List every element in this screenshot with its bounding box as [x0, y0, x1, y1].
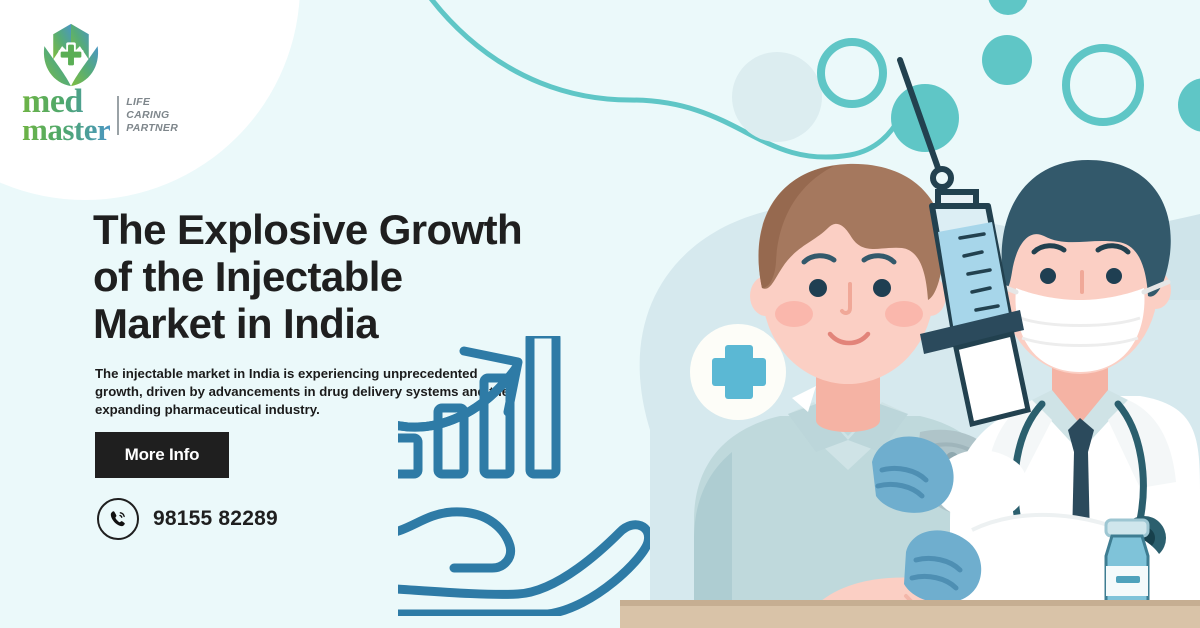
brand-logo[interactable]: med master LIFE CARING PARTNER [22, 18, 202, 143]
contact-phone[interactable]: 98155 82289 [97, 498, 278, 540]
phone-call-icon [97, 498, 139, 540]
more-info-button[interactable]: More Info [95, 432, 229, 478]
patient-cheek-left [775, 301, 813, 327]
leaf-cross-m-logo-icon [34, 18, 108, 92]
patient-eye-right [873, 279, 891, 297]
logo-word-master: master [22, 117, 110, 143]
doctor-vaccinating-patient-illustration [620, 0, 1200, 628]
logo-tagline: LIFE CARING PARTNER [117, 96, 178, 135]
patient-eye-left [809, 279, 827, 297]
phone-number-text: 98155 82289 [153, 507, 278, 531]
doctor-eye-left [1040, 268, 1056, 284]
promo-banner: med master LIFE CARING PARTNER The Explo… [0, 0, 1200, 628]
patient-cheek-right [885, 301, 923, 327]
page-title: The Explosive Growth of the Injectable M… [93, 206, 653, 347]
doctor-eye-right [1106, 268, 1122, 284]
